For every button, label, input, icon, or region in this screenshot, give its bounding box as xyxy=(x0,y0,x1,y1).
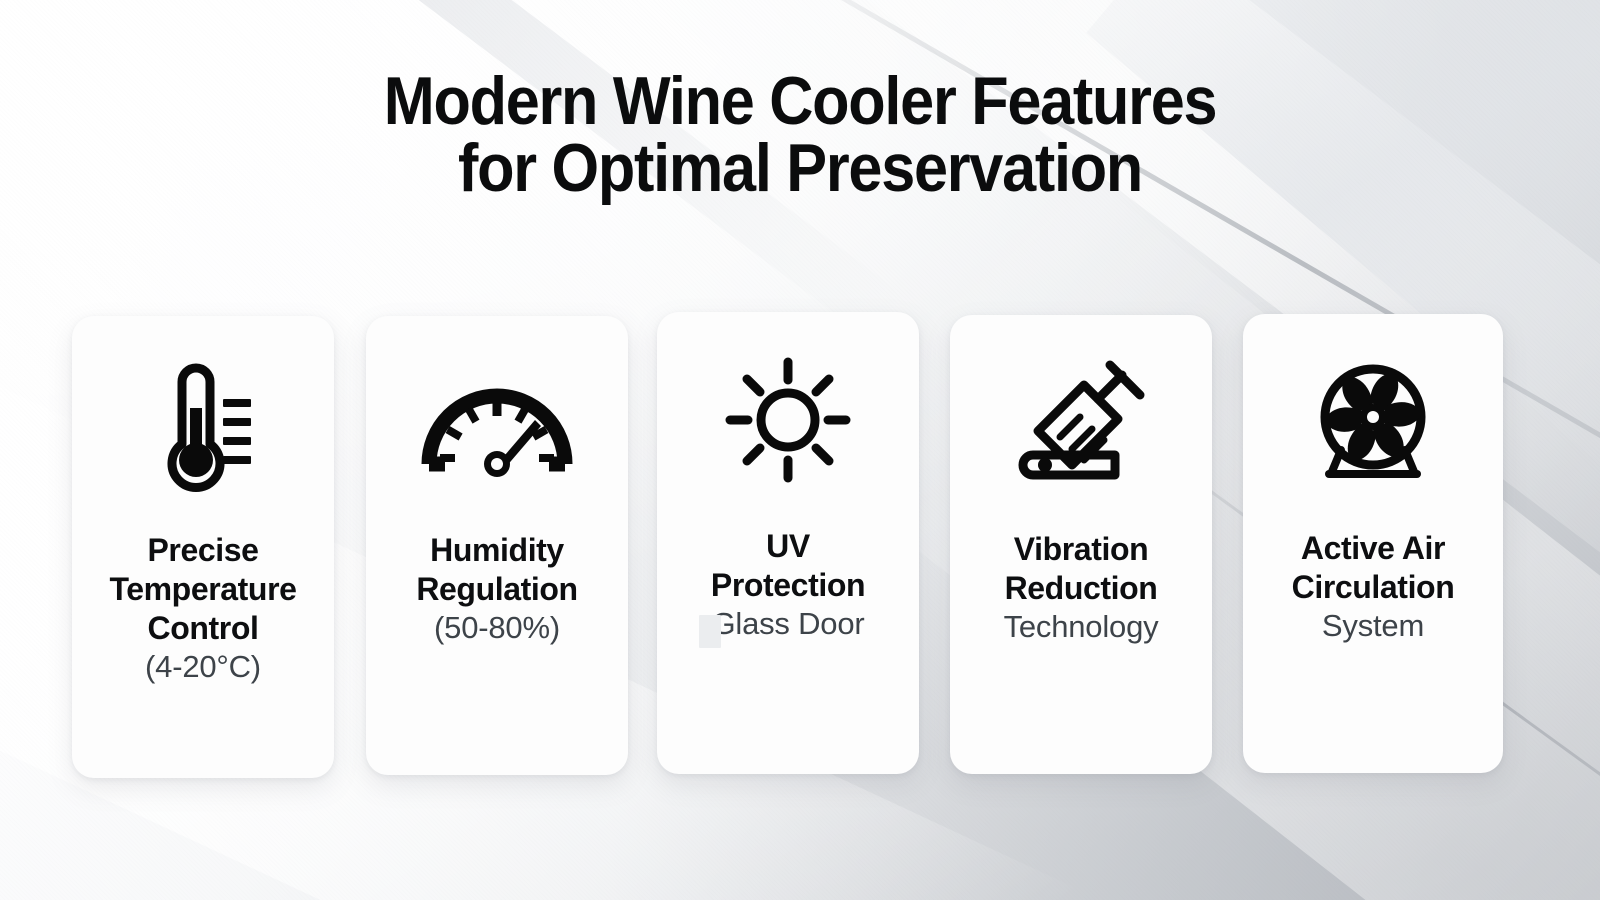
card-text-block: Humidity Regulation (50-80%) xyxy=(366,531,628,646)
card-subtitle: Technology xyxy=(956,608,1206,646)
card-subtitle: (4-20°C) xyxy=(78,648,328,686)
shock-absorber-icon xyxy=(950,315,1212,530)
card-text-block: Precise Temperature Control (4-20°C) xyxy=(72,531,334,685)
card-title: Active Air Circulation xyxy=(1249,529,1497,607)
card-title: Humidity Regulation xyxy=(372,531,622,609)
card-text-block: Vibration Reduction Technology xyxy=(950,530,1212,645)
thermometer-icon xyxy=(72,316,334,531)
feature-card-uv-protection[interactable]: UV Protection Glass Door xyxy=(657,312,919,774)
card-subtitle: System xyxy=(1249,607,1497,645)
page-title-line-1: Modern Wine Cooler Features xyxy=(80,68,1520,135)
render-artifact-block xyxy=(699,615,721,648)
feature-card-precise-temperature-control[interactable]: Precise Temperature Control (4-20°C) xyxy=(72,316,334,778)
card-text-block: UV Protection Glass Door xyxy=(657,527,919,642)
card-title: Vibration Reduction xyxy=(956,530,1206,608)
page-title-line-2: for Optimal Preservation xyxy=(80,135,1520,202)
card-title: UV Protection xyxy=(663,527,913,605)
card-title: Precise Temperature Control xyxy=(78,531,328,648)
feature-card-humidity-regulation[interactable]: Humidity Regulation (50-80%) xyxy=(366,316,628,775)
gauge-icon xyxy=(366,316,628,531)
fan-icon xyxy=(1243,314,1503,529)
sun-icon xyxy=(657,312,919,527)
card-subtitle: (50-80%) xyxy=(372,609,622,647)
feature-card-vibration-reduction[interactable]: Vibration Reduction Technology xyxy=(950,315,1212,774)
card-text-block: Active Air Circulation System xyxy=(1243,529,1503,644)
page-title: Modern Wine Cooler Features for Optimal … xyxy=(80,68,1520,203)
feature-card-active-air-circulation[interactable]: Active Air Circulation System xyxy=(1243,314,1503,773)
